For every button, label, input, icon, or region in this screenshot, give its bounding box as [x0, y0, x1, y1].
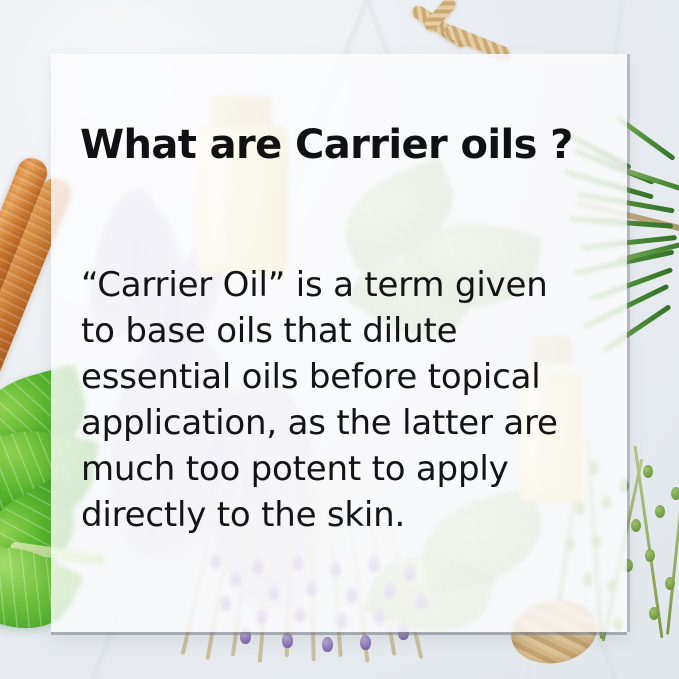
body-line: to base oils that dilute — [81, 308, 611, 354]
body-line: “Carrier Oil” is a term given — [81, 262, 611, 308]
body-paragraph: “Carrier Oil” is a term given to base oi… — [81, 262, 611, 538]
body-line: much too potent to apply — [81, 446, 611, 492]
body-line: application, as the latter are — [81, 400, 611, 446]
text-content-area: What are Carrier oils ? “Carrier Oil” is… — [51, 54, 627, 632]
infographic-canvas: What are Carrier oils ? “Carrier Oil” is… — [0, 0, 679, 679]
page-title: What are Carrier oils ? — [80, 122, 573, 168]
body-line: essential oils before topical — [81, 354, 611, 400]
body-line: directly to the skin. — [81, 492, 611, 538]
